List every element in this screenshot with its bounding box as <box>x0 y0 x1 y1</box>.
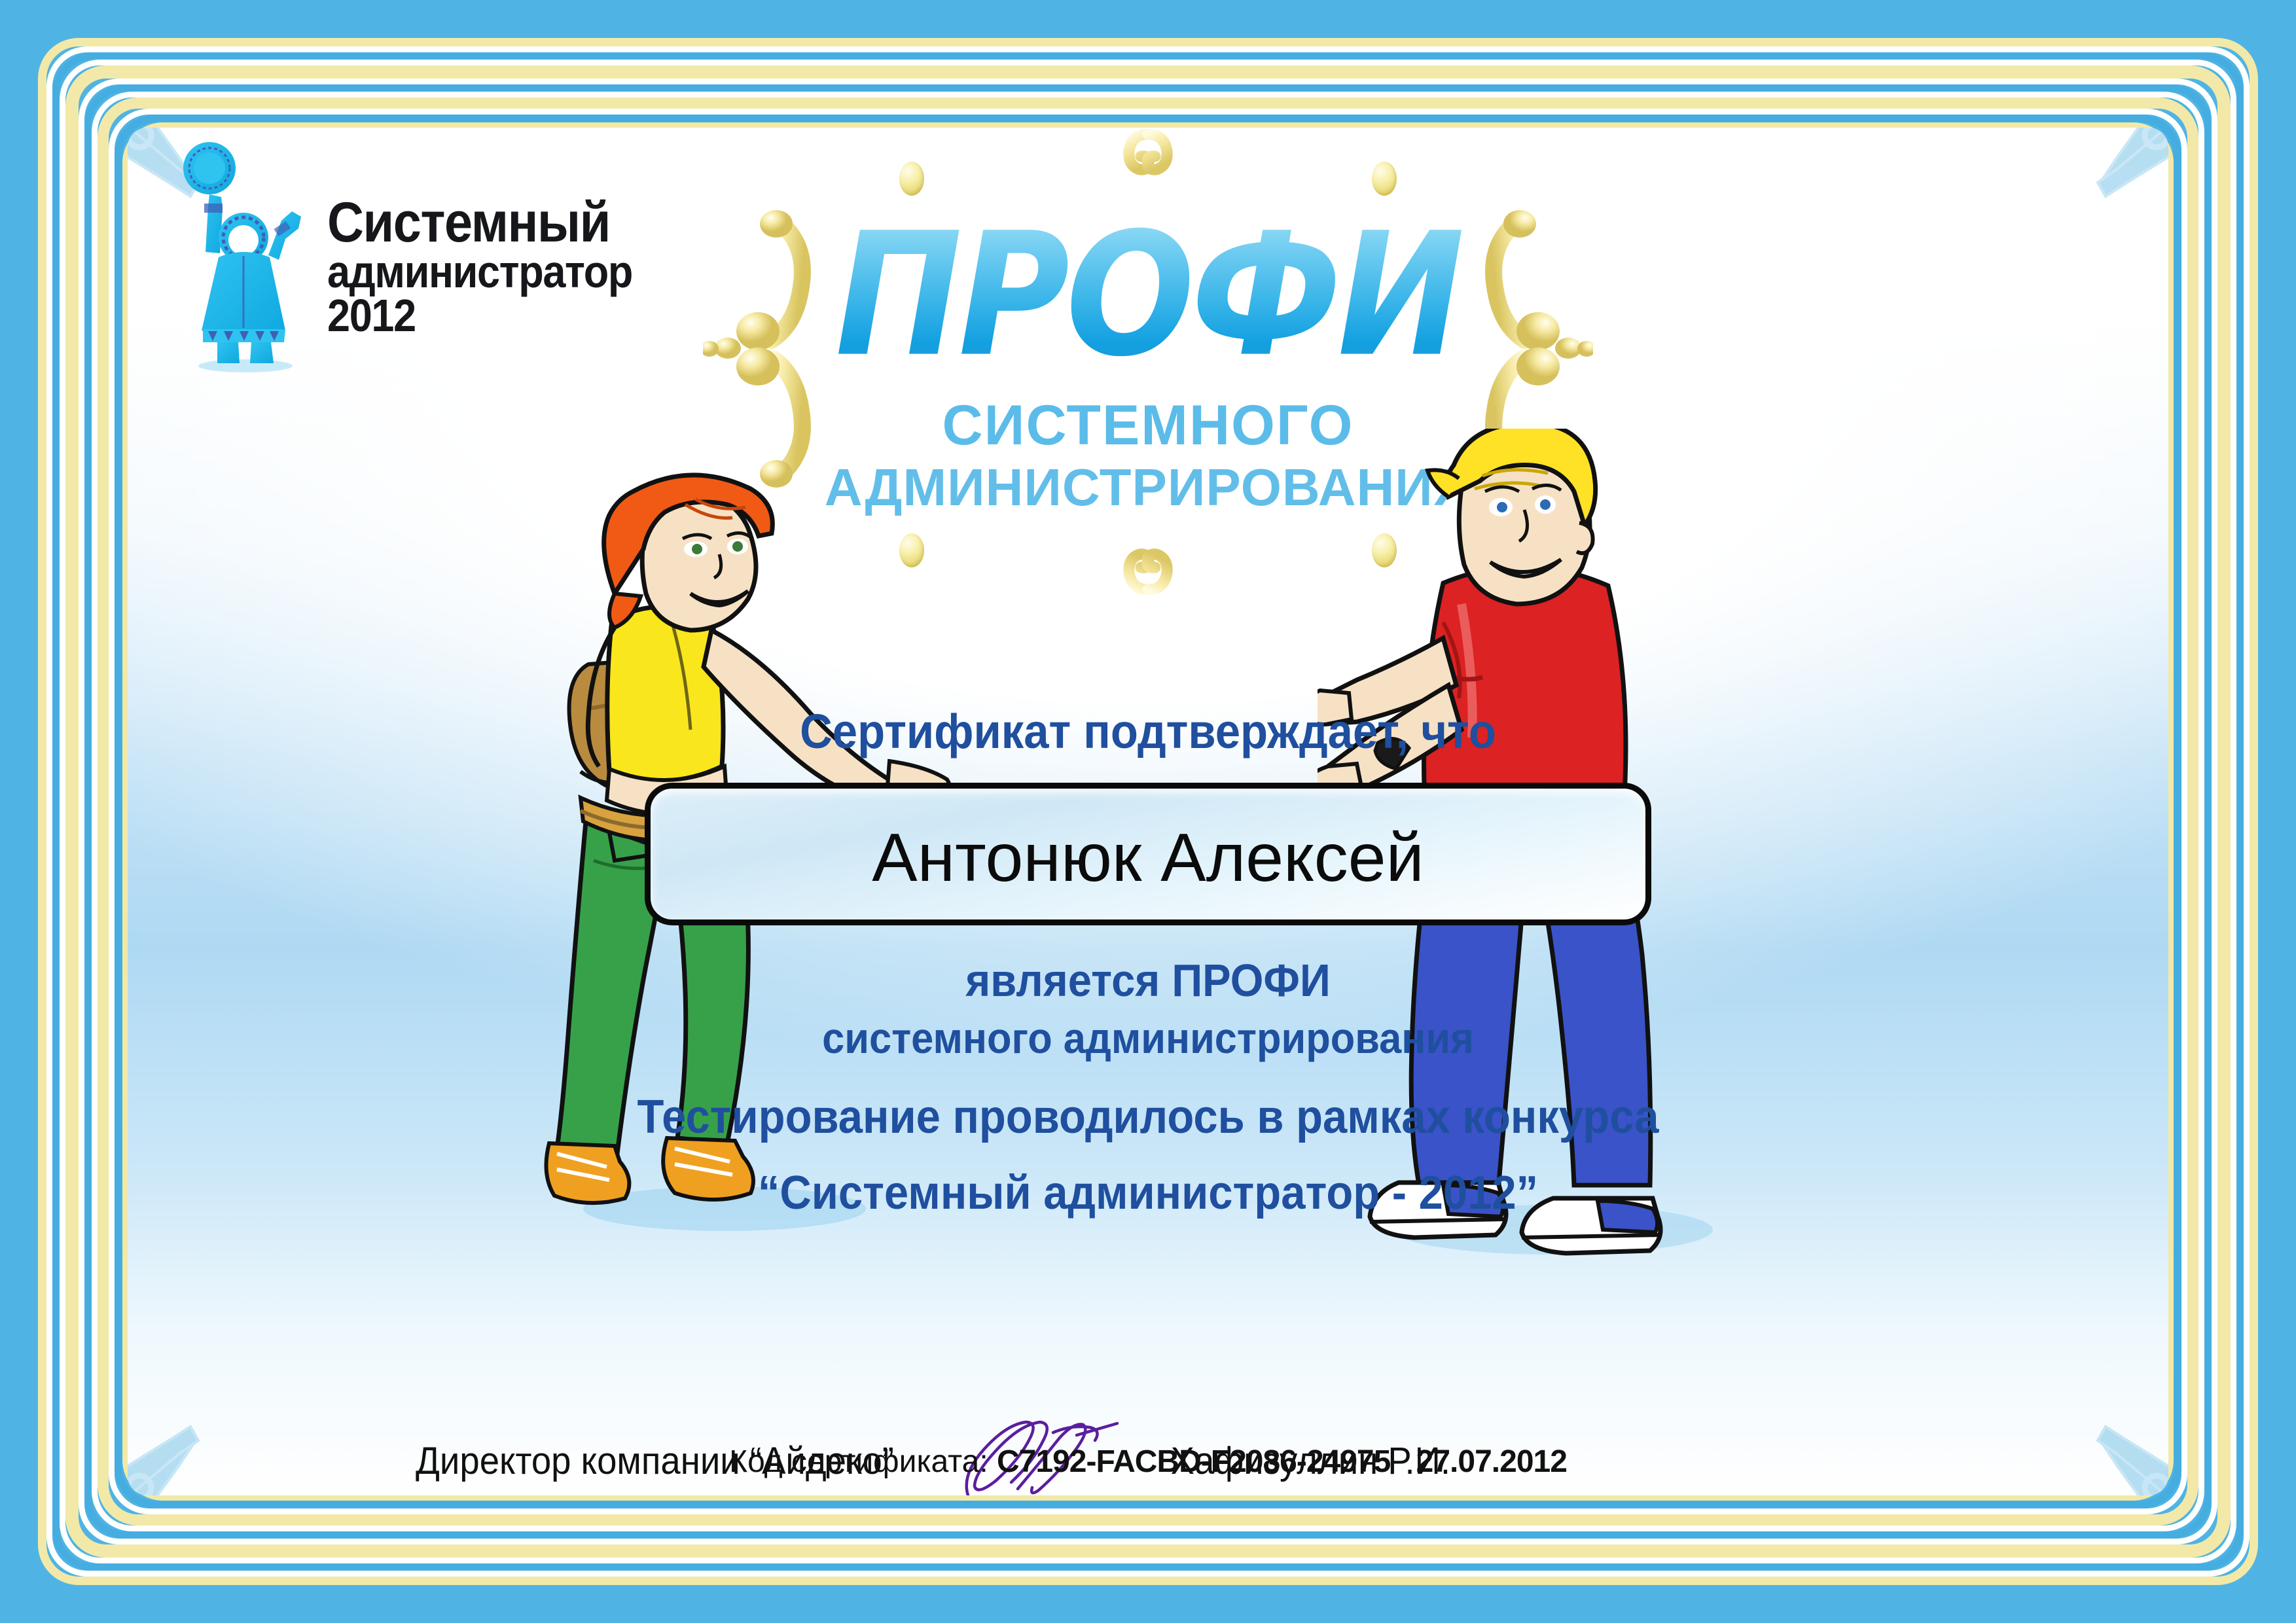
recipient-name: Антонюк Алексей <box>872 819 1424 897</box>
ornament-dot-2 <box>1372 162 1397 196</box>
ornament-bottom-icon <box>1066 532 1230 595</box>
certificate-root: Системный администратор 2012 <box>0 0 2296 1623</box>
body-line-4: “Системный администратор - 2012” <box>624 1166 1672 1220</box>
ornament-dot-1 <box>899 162 924 196</box>
code-date: 27.07.2012 <box>1416 1444 1567 1479</box>
pliers-icon-bottom-left <box>128 1362 261 1495</box>
center-block: Сертификат подтверждает, что Антонюк Але… <box>585 704 1711 1220</box>
recipient-nameplate: Антонюк Алексей <box>645 783 1651 925</box>
certificate-face: Системный администратор 2012 <box>128 128 2168 1495</box>
headline-block: ПРОФИ СИСТЕМНОГО АДМИНИСТРИРОВАНИЯ <box>128 133 2168 591</box>
body-lines: является ПРОФИ системного администрирова… <box>585 954 1711 1220</box>
body-line-3: Тестирование проводилось в рамках конкур… <box>624 1090 1672 1144</box>
code-value: C7192-FACBD-F2086-24975 <box>997 1444 1390 1479</box>
ornament-top-icon <box>1066 129 1230 192</box>
certificate-code-line: Код сертификата: C7192-FACBD-F2086-24975… <box>729 1444 1567 1480</box>
body-line-2: системного администрирования <box>624 1013 1672 1063</box>
headline-profi: ПРОФИ <box>703 210 1593 380</box>
body-line-1: является ПРОФИ <box>624 954 1672 1007</box>
code-label: Код сертификата: <box>729 1444 988 1479</box>
confirm-line: Сертификат подтверждает, что <box>624 704 1672 759</box>
pliers-icon-bottom-right <box>2035 1362 2168 1495</box>
